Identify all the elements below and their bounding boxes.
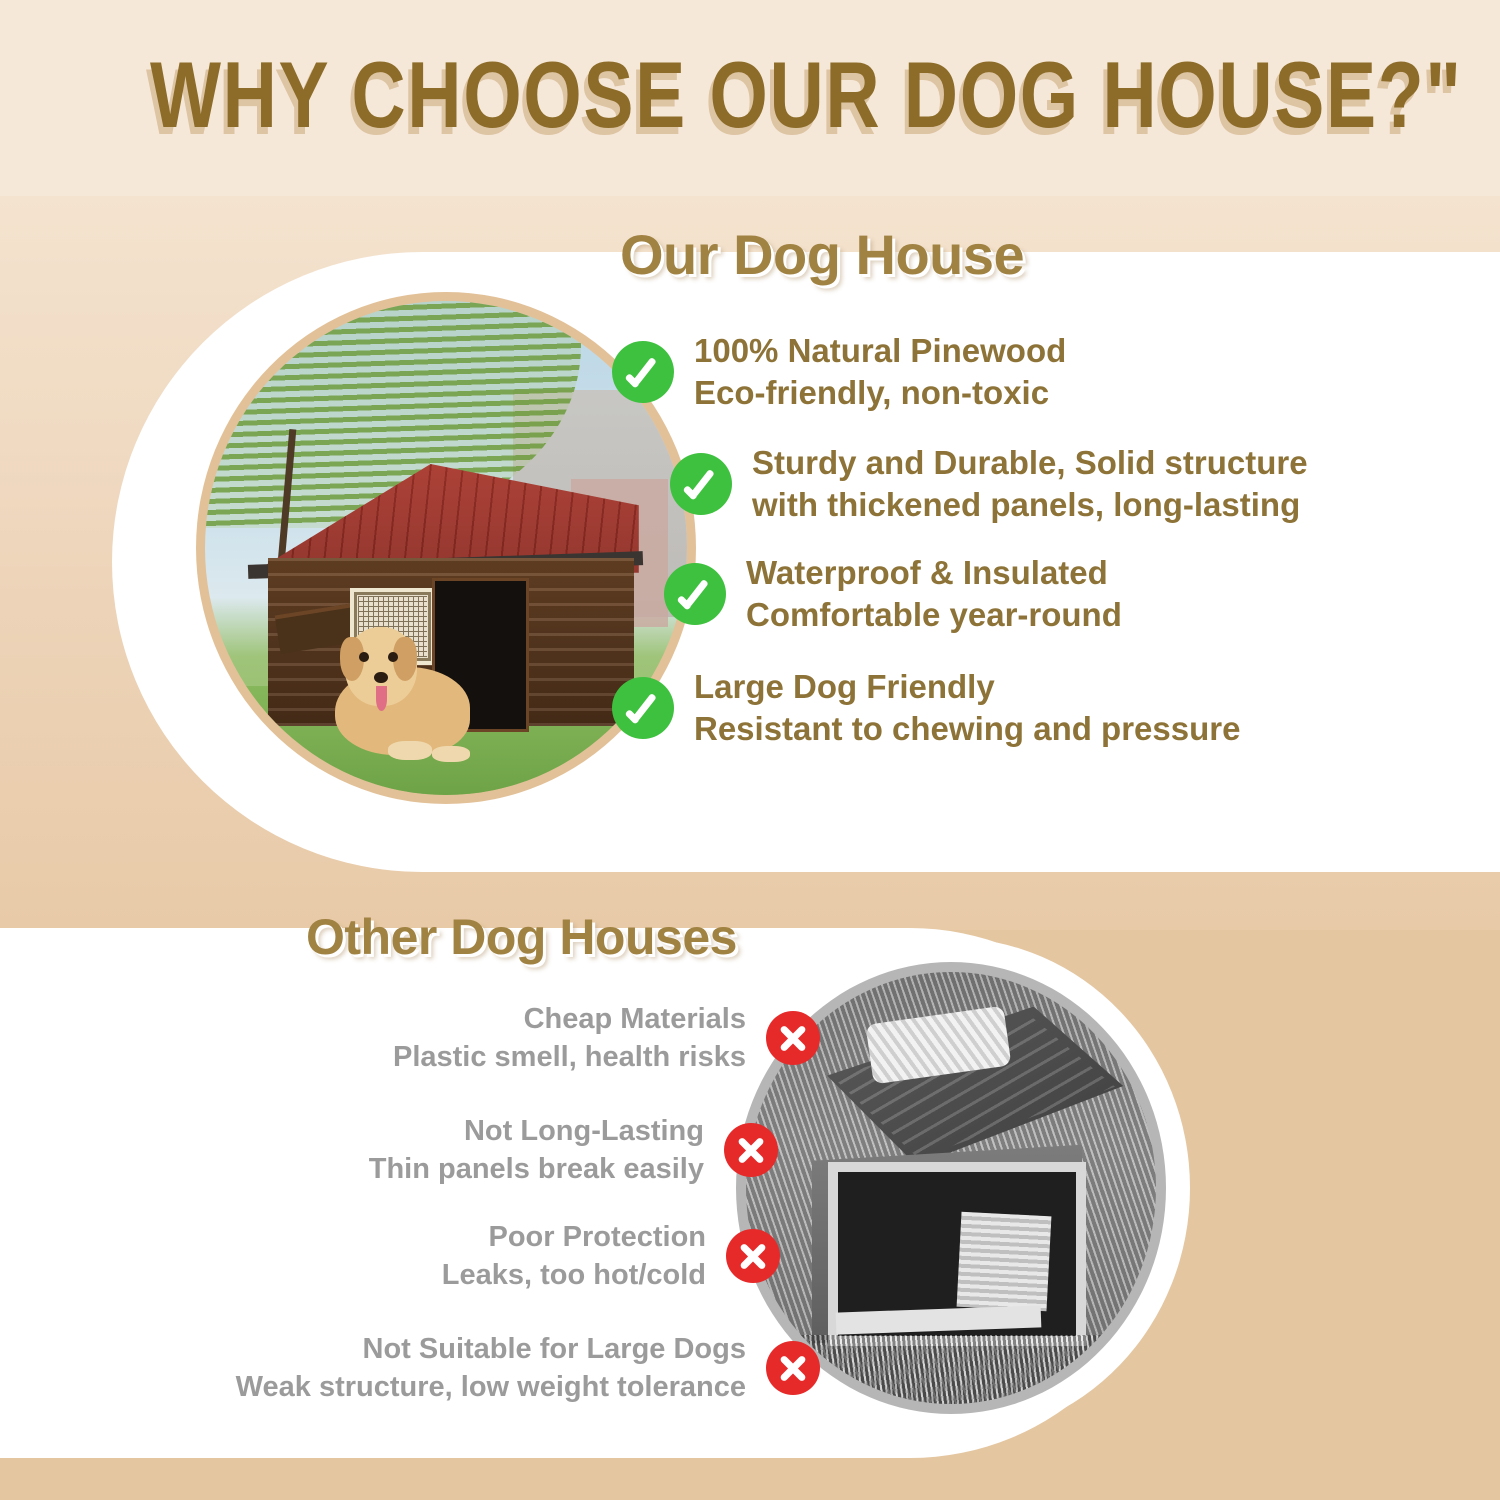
photo-dog-tongue [376, 686, 388, 711]
cross-icon [766, 1011, 820, 1065]
drawback-item: Cheap Materials Plastic smell, health ri… [120, 1000, 820, 1076]
cross-icon [724, 1123, 778, 1177]
our-section-heading: Our Dog House [620, 222, 1024, 287]
other-drawbacks-list: Cheap Materials Plastic smell, health ri… [120, 1000, 820, 1432]
benefit-title: 100% Natural Pinewood [694, 330, 1066, 372]
benefit-title: Waterproof & Insulated [746, 552, 1122, 594]
infographic-stage: WHY CHOOSE OUR DOG HOUSE?" Our Dog House [0, 0, 1500, 1500]
benefit-item: Waterproof & Insulated Comfortable year-… [664, 552, 1472, 636]
benefit-text: Large Dog Friendly Resistant to chewing … [694, 666, 1240, 750]
benefit-item: Sturdy and Durable, Solid structure with… [670, 442, 1472, 526]
benefit-title: Large Dog Friendly [694, 666, 1240, 708]
benefit-subtitle: Eco-friendly, non-toxic [694, 372, 1066, 414]
our-benefits-list: 100% Natural Pinewood Eco-friendly, non-… [612, 330, 1472, 772]
benefit-subtitle: Comfortable year-round [746, 594, 1122, 636]
drawback-title: Cheap Materials [393, 1000, 746, 1038]
drawback-text: Not Long-Lasting Thin panels break easil… [369, 1112, 704, 1188]
benefit-subtitle: with thickened panels, long-lasting [752, 484, 1308, 526]
drawback-text: Not Suitable for Large Dogs Weak structu… [236, 1330, 746, 1406]
check-icon [670, 453, 732, 515]
photo-dog-paw-right [432, 746, 471, 763]
drawback-subtitle: Plastic smell, health risks [393, 1038, 746, 1076]
drawback-title: Not Long-Lasting [369, 1112, 704, 1150]
benefit-text: Sturdy and Durable, Solid structure with… [752, 442, 1308, 526]
drawback-title: Not Suitable for Large Dogs [236, 1330, 746, 1368]
check-icon [612, 677, 674, 739]
drawback-item: Poor Protection Leaks, too hot/cold [120, 1218, 820, 1294]
drawback-title: Poor Protection [442, 1218, 706, 1256]
page-title: WHY CHOOSE OUR DOG HOUSE?" [150, 46, 1350, 144]
drawback-subtitle: Weak structure, low weight tolerance [236, 1368, 746, 1406]
benefit-item: Large Dog Friendly Resistant to chewing … [612, 666, 1472, 750]
photo-dog-eye-left [359, 652, 369, 662]
photo-dog-paw-left [388, 741, 431, 761]
drawback-item: Not Suitable for Large Dogs Weak structu… [120, 1330, 820, 1406]
benefit-title: Sturdy and Durable, Solid structure [752, 442, 1308, 484]
other-section-heading: Other Dog Houses [306, 908, 737, 966]
check-icon [612, 341, 674, 403]
check-icon [664, 563, 726, 625]
benefit-subtitle: Resistant to chewing and pressure [694, 708, 1240, 750]
drawback-text: Cheap Materials Plastic smell, health ri… [393, 1000, 746, 1076]
drawback-text: Poor Protection Leaks, too hot/cold [442, 1218, 706, 1294]
drawback-item: Not Long-Lasting Thin panels break easil… [120, 1112, 820, 1188]
drawback-subtitle: Leaks, too hot/cold [442, 1256, 706, 1294]
benefit-text: 100% Natural Pinewood Eco-friendly, non-… [694, 330, 1066, 414]
our-panel-corner-fill [1180, 800, 1500, 872]
benefit-text: Waterproof & Insulated Comfortable year-… [746, 552, 1122, 636]
drawback-subtitle: Thin panels break easily [369, 1150, 704, 1188]
benefit-item: 100% Natural Pinewood Eco-friendly, non-… [612, 330, 1472, 414]
cross-icon [766, 1341, 820, 1395]
other-photo-inner-board [957, 1212, 1052, 1312]
photo-dog-eye-right [388, 652, 398, 662]
cross-icon [726, 1229, 780, 1283]
